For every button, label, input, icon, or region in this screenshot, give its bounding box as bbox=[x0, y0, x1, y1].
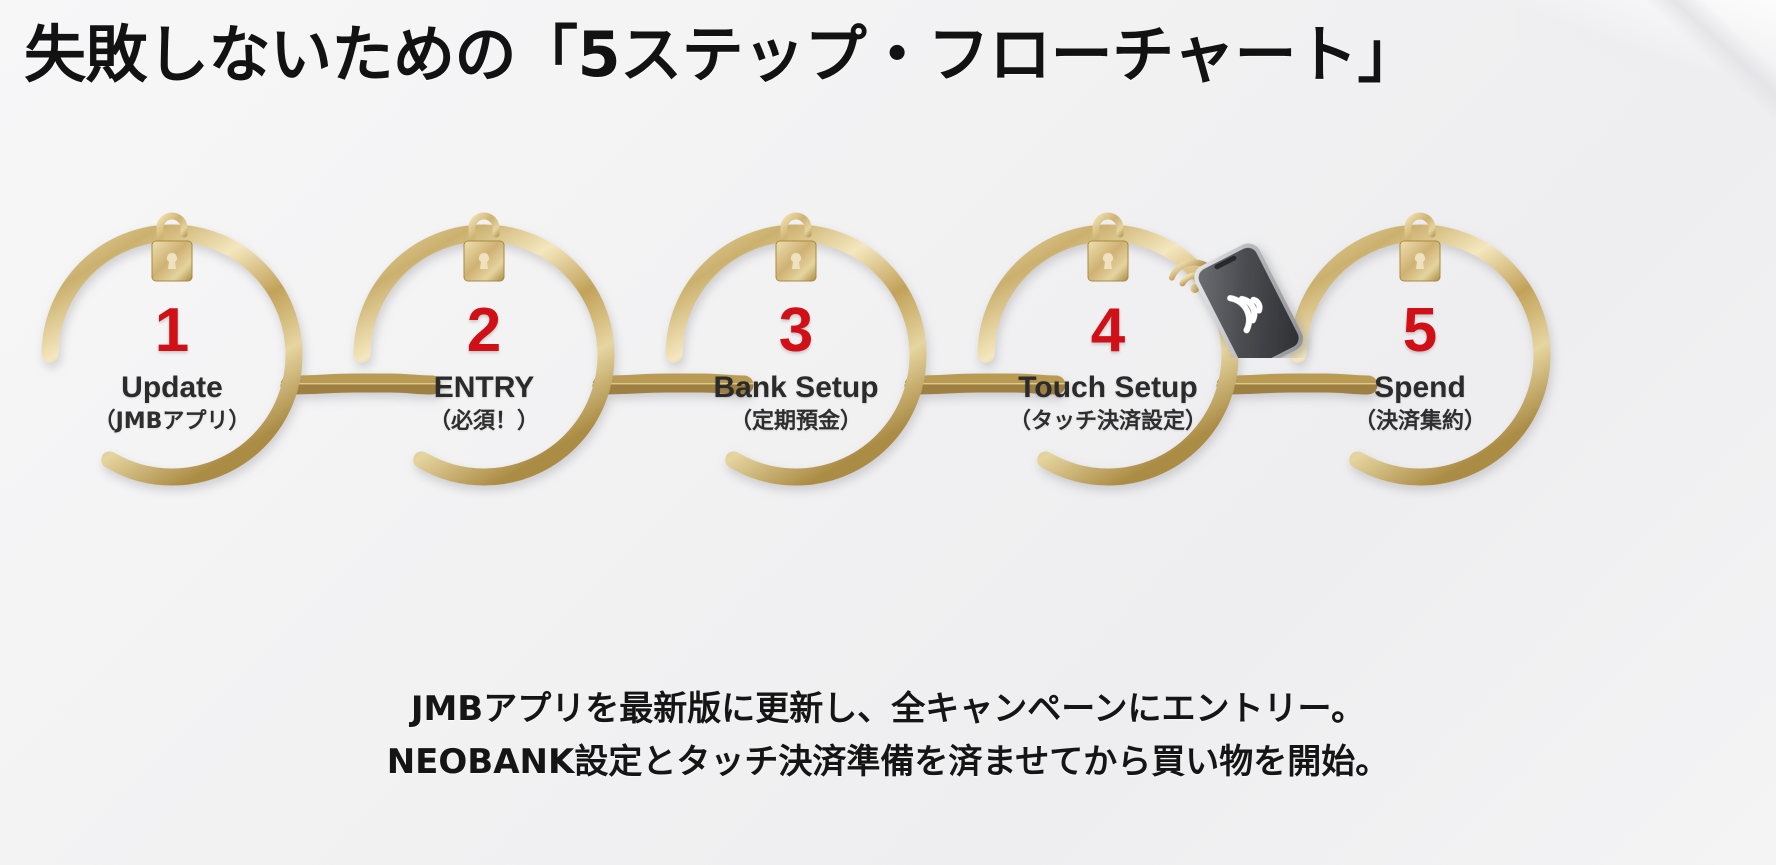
step-sublabel: （JMBアプリ） bbox=[47, 410, 297, 434]
caption-line-1: JMBアプリを最新版に更新し、全キャンペーンにエントリー。 bbox=[0, 683, 1776, 736]
step-label: Spend bbox=[1295, 372, 1545, 404]
five-step-flowchart: 1 Update （JMBアプリ） 2 ENTRY （必須！） bbox=[0, 200, 1776, 530]
corner-light-streak bbox=[1516, 0, 1776, 90]
summary-caption: JMBアプリを最新版に更新し、全キャンペーンにエントリー。 NEOBANK設定と… bbox=[0, 683, 1776, 788]
open-padlock-icon bbox=[1080, 208, 1136, 290]
step-label: Touch Setup bbox=[983, 372, 1233, 404]
nfc-contactless-phone-icon bbox=[1140, 228, 1320, 358]
step-label: Update bbox=[47, 372, 297, 404]
open-padlock-icon bbox=[144, 208, 200, 290]
step-sublabel: （定期預金） bbox=[671, 410, 921, 434]
step-sublabel: （決済集約） bbox=[1295, 410, 1545, 434]
step-label: Bank Setup bbox=[671, 372, 921, 404]
page-title: 失敗しないための「5ステップ・フローチャート」 bbox=[24, 22, 1419, 89]
step-number: 2 bbox=[359, 300, 609, 362]
caption-line-2: NEOBANK設定とタッチ決済準備を済ませてから買い物を開始。 bbox=[0, 736, 1776, 789]
step-number: 3 bbox=[671, 300, 921, 362]
open-padlock-icon bbox=[768, 208, 824, 290]
open-padlock-icon bbox=[456, 208, 512, 290]
step-sublabel: （タッチ決済設定） bbox=[983, 410, 1233, 434]
flow-step-5[interactable]: 5 Spend （決済集約） bbox=[1295, 200, 1545, 530]
step-number: 5 bbox=[1295, 300, 1545, 362]
flow-step-2[interactable]: 2 ENTRY （必須！） bbox=[359, 200, 609, 530]
step-label: ENTRY bbox=[359, 372, 609, 404]
step-sublabel: （必須！） bbox=[359, 410, 609, 434]
flow-step-3[interactable]: 3 Bank Setup （定期預金） bbox=[671, 200, 921, 530]
flow-step-1[interactable]: 1 Update （JMBアプリ） bbox=[47, 200, 297, 530]
step-number: 1 bbox=[47, 300, 297, 362]
open-padlock-icon bbox=[1392, 208, 1448, 290]
